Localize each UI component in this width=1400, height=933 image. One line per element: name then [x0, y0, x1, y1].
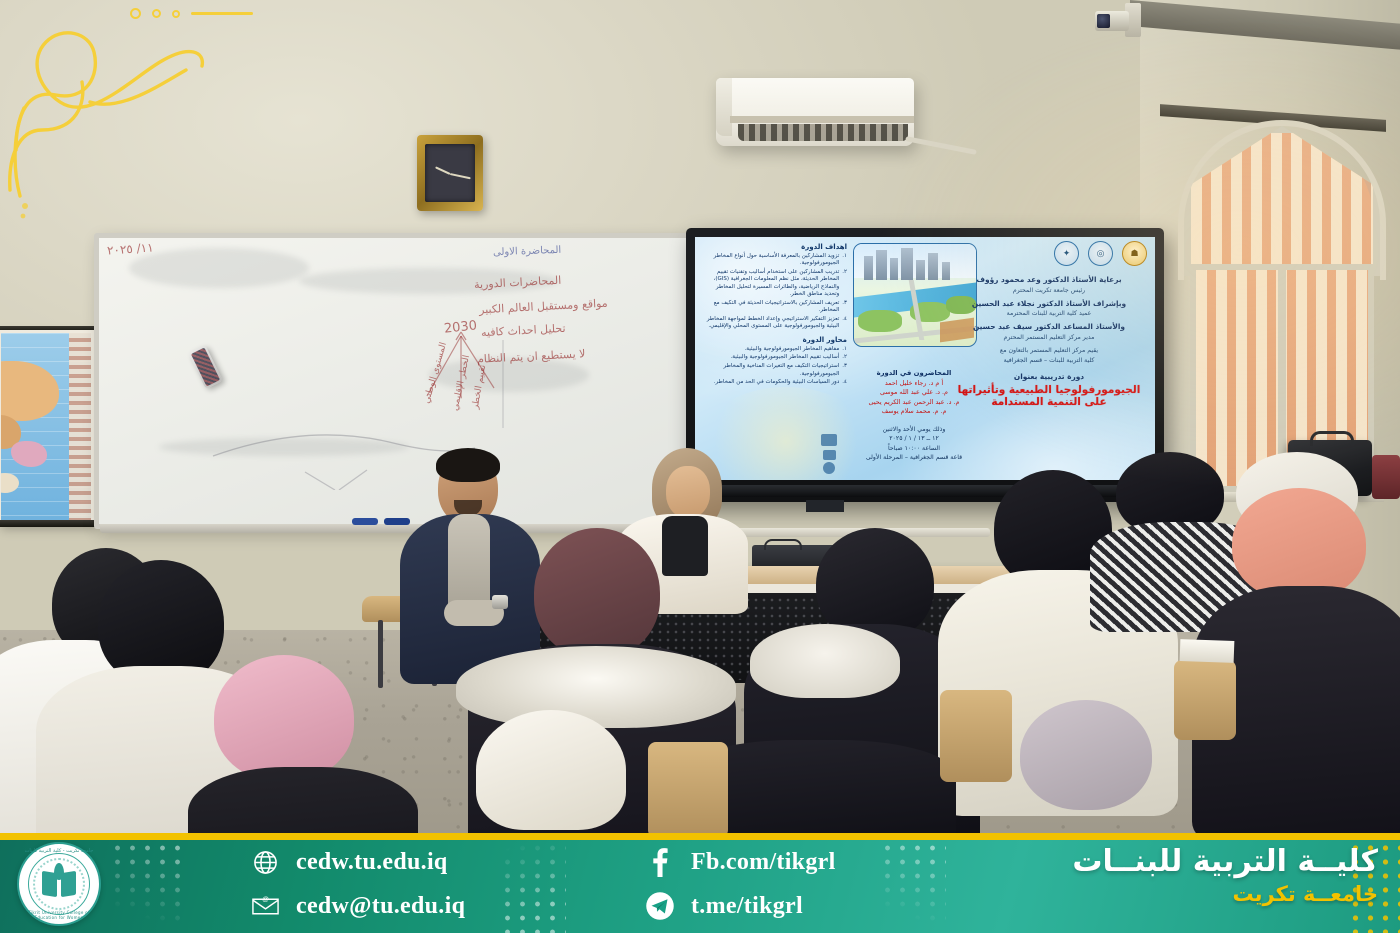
schedule-dates: ١٢ ــ ١٣ / ١ / ٢٠٢٥ [843, 434, 985, 443]
hijab-pink [214, 655, 354, 781]
classroom-chair[interactable] [648, 742, 728, 838]
world-map-poster [0, 330, 94, 525]
map-bottom-rod [0, 520, 100, 527]
footer-banner: جامعة تكريت - كلية التربية للبنات Tikrit… [0, 833, 1400, 933]
ac-trim [730, 116, 914, 123]
footer-social: Fb.com/tikgrl t.me/tikgrl [645, 847, 836, 921]
slide-logos: ✦ ◎ ☗ [1054, 241, 1147, 266]
banner-dot-pattern-left [110, 841, 190, 933]
ministry-logo: ◎ [1088, 241, 1113, 266]
patronage-line-2-sub: عميد كلية التربية للبنات المحترمة [949, 310, 1149, 318]
slide-info-icons [817, 432, 863, 476]
tikrit-university-logo: ✦ [1054, 241, 1079, 266]
axis-item: ١.مفاهيم المخاطر الجيومورفولوجية والبيئي… [701, 346, 847, 353]
course-title: الجيومورفولوجيا الطبيعية وتأثيراتها على … [949, 384, 1149, 410]
objectives-heading: اهداف الدورة [701, 243, 847, 251]
patronage-line-3-sub: مدير مركز التعليم المستمر المحترم [949, 334, 1149, 342]
ac-vent-louvers [738, 124, 908, 141]
audience-member [194, 655, 406, 855]
air-conditioner [716, 78, 914, 146]
hijab-salmon [1232, 488, 1366, 600]
slide-patronage-column: برعاية الأستاذ الدكتور وعد محمود رؤوف رئ… [949, 271, 1149, 409]
university-name: جامعــة تكريت [1072, 882, 1378, 907]
facebook-icon [645, 847, 675, 877]
patronage-line-3: والأستاذ المساعد الدكتور سيف عبد حسين [949, 322, 1149, 331]
organizer-line: يقيم مركز التعليم المستمر بالتعاون مع [949, 347, 1149, 355]
telegram-url[interactable]: t.me/tikgrl [691, 893, 803, 920]
objective-item: ٢.تدريب المشاركين على استخدام أساليب وتق… [701, 269, 847, 298]
hijab-lavender [1020, 700, 1152, 810]
presenter-turtleneck [448, 514, 490, 610]
presenter-hair [436, 448, 500, 482]
smart-board-display[interactable]: ✦ ◎ ☗ اهداف الدورة ١.تزويد المشاركين بال… [686, 228, 1164, 502]
open-book-icon [42, 872, 76, 896]
clock-hour-hand [435, 166, 450, 175]
papers-stack[interactable] [1180, 639, 1235, 663]
blue-marker[interactable] [352, 518, 378, 525]
telegram-icon [645, 891, 675, 921]
flame-icon [54, 863, 64, 880]
ac-side-panel [716, 78, 732, 136]
camera-lens [1097, 14, 1110, 28]
schedule-time: الساعة ١٠:٠٠ صباحاً [843, 444, 985, 453]
hijab-maroon [534, 528, 660, 658]
globe-icon [250, 847, 280, 877]
audience-member [1216, 452, 1394, 832]
course-label: دورة تدريبية بعنوان [949, 372, 1149, 381]
social-facebook-row[interactable]: Fb.com/tikgrl [645, 847, 836, 877]
svg-text:@: @ [262, 896, 269, 903]
patronage-line-1: برعاية الأستاذ الدكتور وعد محمود رؤوف [949, 275, 1149, 284]
audience-member [1002, 700, 1192, 850]
social-telegram-row[interactable]: t.me/tikgrl [645, 891, 836, 921]
whiteboard: المحاضرة الاولى ١١/ ٢٠٢٥ المحاضرات الدور… [94, 233, 692, 529]
footer-contacts: cedw.tu.edu.iq @ cedw@tu.edu.iq [250, 847, 465, 921]
fur-trim [750, 624, 900, 698]
whiteboard-note-r2: مواقع ومستقبل العالم الكبير [479, 297, 608, 317]
security-camera [1095, 3, 1141, 43]
website-url[interactable]: cedw.tu.edu.iq [296, 849, 448, 876]
patronage-line-2: وبإشراف الأستاذ الدكتور نجلاء عبد الحسين [949, 299, 1149, 308]
schedule-venue: قاعة قسم الجغرافية – المرحلة الأولى [843, 453, 985, 462]
axis-item: ٢.أساليب تقييم المخاطر الجيومورفولوجية و… [701, 354, 847, 361]
presenter-face [666, 466, 710, 518]
classroom-photo: المحاضرة الاولى ١١/ ٢٠٢٥ المحاضرات الدور… [0, 0, 1400, 933]
facebook-url[interactable]: Fb.com/tikgrl [691, 849, 836, 876]
objective-item: ٤.تعزيز التفكير الاستراتيجي وإعداد الخطط… [701, 316, 847, 331]
college-name: كليــة التربية للبنــات [1072, 845, 1378, 878]
window-arch-frame [1178, 120, 1386, 280]
axis-item: ٣.استراتيجيات التكيف مع التغيرات المناخي… [701, 363, 847, 378]
classroom-chair[interactable] [1174, 660, 1236, 740]
banner-dot-pattern-mid2 [880, 841, 946, 933]
banner-dot-pattern-mid [500, 841, 566, 933]
footer-brand: كليــة التربية للبنــات جامعــة تكريت [1072, 845, 1378, 907]
seal-inner-ring [28, 853, 90, 915]
slide-objectives-column: اهداف الدورة ١.تزويد المشاركين بالمعرفة … [701, 243, 847, 388]
axis-item: ٤.دور السياسات البيئية والحكومات في الحد… [701, 379, 847, 386]
clock-minute-hand [450, 173, 471, 179]
wall-clock [417, 135, 483, 211]
college-seal-logo: جامعة تكريت - كلية التربية للبنات Tikrit… [17, 842, 101, 926]
contact-website-row[interactable]: cedw.tu.edu.iq [250, 847, 465, 877]
classroom-chair[interactable] [940, 690, 1012, 782]
wristwatch [492, 595, 508, 609]
patronage-line-1-sub: رئيس جامعة تكريت المحترم [949, 287, 1149, 295]
smart-board-stand [806, 500, 844, 512]
contact-email-row[interactable]: @ cedw@tu.edu.iq [250, 891, 465, 921]
organizer-sub: كلية التربية للبنات – قسم الجغرافية [949, 357, 1149, 365]
axes-heading: محاور الدورة [701, 336, 847, 344]
email-address[interactable]: cedw@tu.edu.iq [296, 893, 465, 920]
schedule-days: وذلك يومي الأحد والاثنين [843, 425, 985, 434]
fur-hood-white [476, 710, 626, 830]
college-logo: ☗ [1122, 241, 1147, 266]
map-legend-band [69, 333, 91, 522]
whiteboard-note-lecture-title: المحاضرة الاولى [493, 245, 562, 258]
clock-face [425, 144, 475, 202]
objective-item: ٣.تعريف المشاركين بالاستراتيجيات الحديثة… [701, 300, 847, 315]
seal-arc-bottom-text: Tikrit University College of Education f… [19, 910, 99, 920]
email-icon: @ [250, 891, 280, 921]
objective-item: ١.تزويد المشاركين بالمعرفة الأساسية حول … [701, 253, 847, 268]
schedule-block: وذلك يومي الأحد والاثنين ١٢ ــ ١٣ / ١ / … [843, 425, 985, 462]
banner-gold-stripe [0, 833, 1400, 840]
presentation-slide: ✦ ◎ ☗ اهداف الدورة ١.تزويد المشاركين بال… [695, 237, 1155, 480]
